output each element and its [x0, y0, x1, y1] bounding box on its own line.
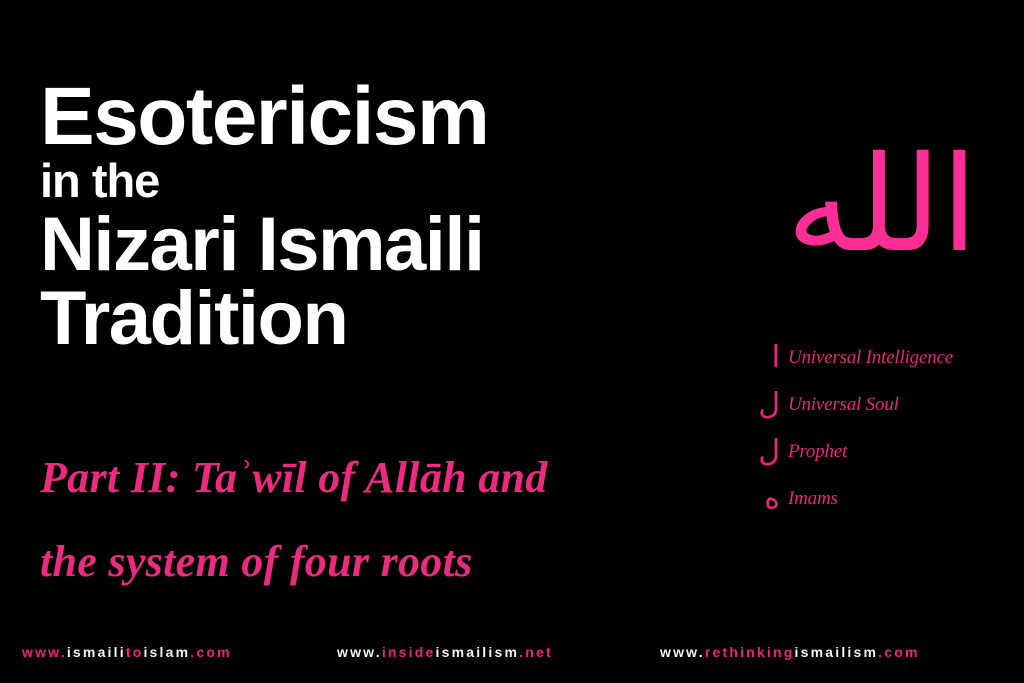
url-segment: www.	[22, 644, 67, 660]
title-line-1: Esotericism	[40, 78, 730, 155]
url-segment: inside	[382, 644, 436, 660]
title-block: Esotericism in the Nizari Ismaili Tradit…	[40, 78, 730, 354]
site-url-rethinkingismailism[interactable]: www.rethinkingismailism.com	[660, 638, 920, 666]
arabic-letter-ha: ه	[748, 484, 788, 514]
arabic-letter-lam-1: ل	[748, 390, 788, 420]
url-segment: www.	[337, 644, 382, 660]
url-segment: to	[126, 644, 144, 660]
title-line-3: Nizari Ismaili	[40, 209, 730, 280]
title-line-2: in the	[40, 159, 730, 203]
url-segment: rethinking	[705, 644, 795, 660]
subtitle-line-1: Part II: Taʾwīl of Allāh and	[40, 456, 700, 500]
list-item: ا Universal Intelligence	[748, 334, 1024, 381]
site-url-ismailitoislam[interactable]: www.ismailitoislam.com	[22, 638, 232, 666]
list-item: ه Imams	[748, 475, 1024, 522]
footer-sites: www.ismailitoislam.com www.insideismaili…	[0, 638, 1024, 666]
url-segment: .com	[878, 644, 919, 660]
url-segment: www.	[660, 644, 705, 660]
subtitle-block: Part II: Taʾwīl of Allāh and the system …	[40, 456, 700, 584]
list-item: ل Prophet	[748, 428, 1024, 475]
url-segment: .com	[190, 644, 231, 660]
url-segment: islam	[143, 644, 190, 660]
url-segment: .net	[519, 644, 553, 660]
root-label: Prophet	[788, 441, 847, 463]
url-segment: ismailism	[436, 644, 520, 660]
allah-calligraphy: الله	[740, 130, 1024, 282]
url-segment: ismaili	[67, 644, 126, 660]
arabic-letter-alif: ا	[748, 343, 788, 373]
url-segment: ismailism	[795, 644, 879, 660]
slide-canvas: Esotericism in the Nizari Ismaili Tradit…	[0, 0, 1024, 683]
root-label: Universal Intelligence	[788, 347, 953, 369]
list-item: ل Universal Soul	[748, 381, 1024, 428]
root-label: Imams	[788, 488, 838, 510]
site-url-insideismailism[interactable]: www.insideismailism.net	[337, 638, 553, 666]
subtitle-line-2: the system of four roots	[40, 540, 700, 584]
arabic-letter-lam-2: ل	[748, 437, 788, 467]
title-line-4: Tradition	[40, 283, 730, 354]
root-label: Universal Soul	[788, 394, 899, 416]
allah-glyph: الله	[786, 130, 977, 282]
four-roots-list: ا Universal Intelligence ل Universal Sou…	[748, 334, 1024, 522]
